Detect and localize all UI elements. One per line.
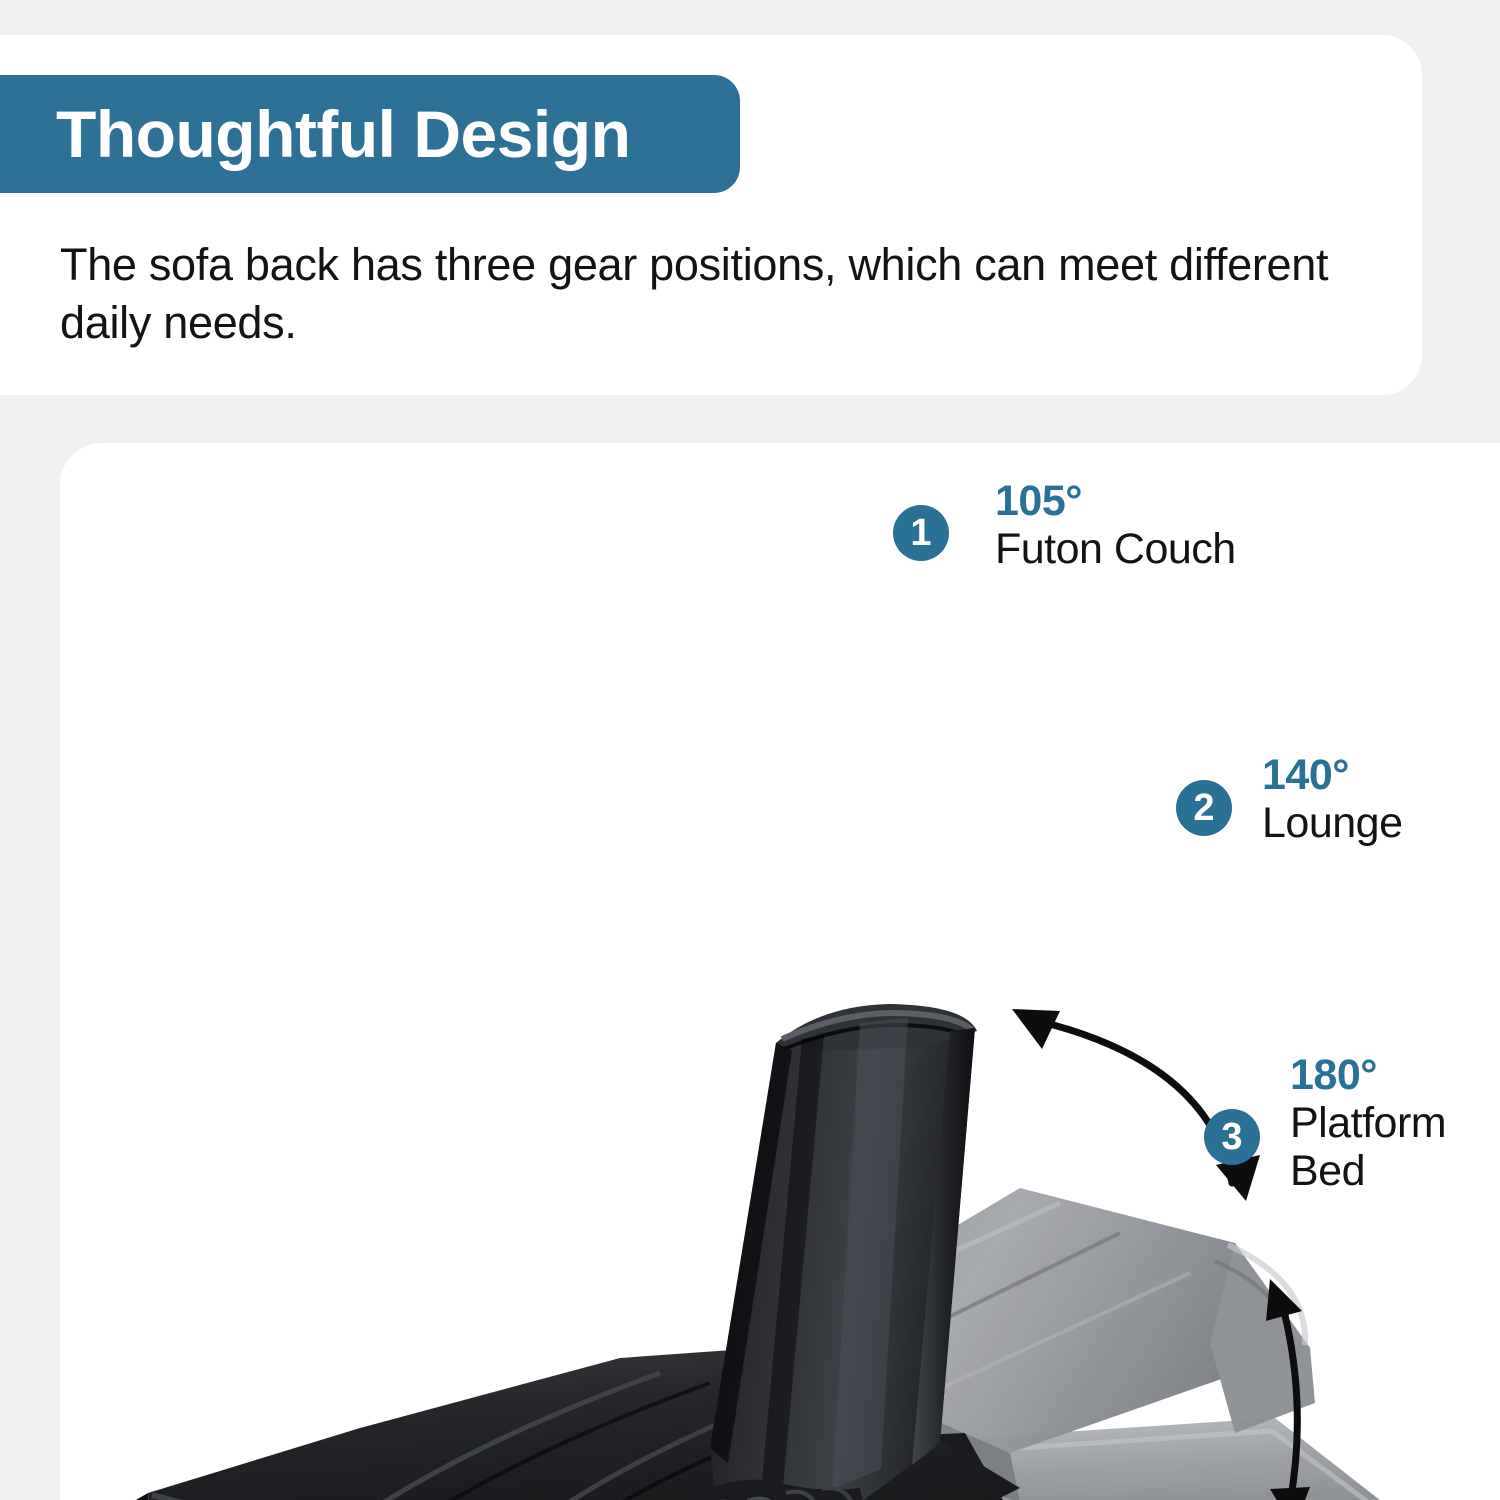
subtitle-text: The sofa back has three gear positions, …: [60, 236, 1360, 351]
callout-3-label-line1: Platform: [1290, 1099, 1470, 1147]
callout-1-angle: 105°: [995, 478, 1236, 525]
callout-1-label: Futon Couch: [995, 525, 1236, 573]
infographic-page: Thoughtful Design The sofa back has thre…: [0, 0, 1500, 1500]
callout-2-badge: 2: [1176, 780, 1232, 836]
callout-3-label-line2: Bed: [1290, 1147, 1470, 1195]
callout-2-label: Lounge: [1262, 799, 1403, 847]
callout-3-angle: 180°: [1290, 1052, 1470, 1099]
diagram-card: [60, 443, 1500, 1500]
arrowhead-to-1: [1012, 1009, 1060, 1049]
callout-3[interactable]: 3 180° Platform Bed: [1290, 1052, 1470, 1196]
backrest-upright: [700, 1004, 977, 1500]
callout-3-badge: 3: [1204, 1109, 1260, 1165]
arrow-1-to-2: [1038, 1021, 1232, 1183]
sofa-diagram: [60, 443, 1500, 1500]
arrowhead-to-3: [1270, 1487, 1310, 1500]
title-banner: Thoughtful Design: [0, 75, 740, 193]
callout-2[interactable]: 2 140° Lounge: [1262, 752, 1403, 847]
callout-1-badge: 1: [893, 505, 949, 561]
page-title: Thoughtful Design: [56, 101, 630, 167]
callout-2-angle: 140°: [1262, 752, 1403, 799]
callout-1[interactable]: 1 105° Futon Couch: [995, 478, 1236, 573]
